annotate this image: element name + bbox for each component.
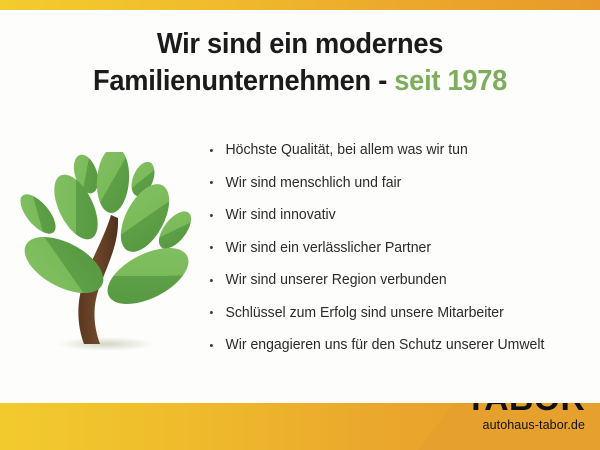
tree-leaves	[14, 152, 194, 316]
list-item-label: Wir sind innovativ	[225, 207, 335, 223]
list-item: Wir sind innovativ	[208, 207, 586, 224]
list-item-label: Wir sind menschlich und fair	[225, 175, 401, 191]
bullet-icon	[210, 279, 213, 282]
list-item: Wir engagieren uns für den Schutz unsere…	[208, 337, 586, 354]
logo-text: TABOR autohaus-tabor.de	[468, 382, 585, 432]
list-item: Höchste Qualität, bei allem was wir tun	[208, 142, 586, 159]
bullet-icon	[210, 181, 213, 184]
brand-url: autohaus-tabor.de	[468, 418, 585, 432]
footer-band: TABOR autohaus-tabor.de	[0, 370, 600, 450]
bullet-icon	[210, 311, 213, 314]
brand-wordmark: TABOR	[465, 382, 585, 416]
leaf	[14, 189, 62, 240]
page-title-line-1: Wir sind ein modernes	[18, 26, 582, 63]
slide-canvas: Wir sind ein modernes Familienunternehme…	[0, 0, 600, 450]
list-item: Wir sind ein verlässlicher Partner	[208, 240, 586, 257]
list-item: Wir sind menschlich und fair	[208, 175, 586, 192]
page-title-accent: seit 1978	[394, 65, 507, 97]
page-title: Wir sind ein modernes Familienunternehme…	[18, 26, 582, 100]
list-item: Wir sind unserer Region verbunden	[208, 272, 586, 289]
leaf	[95, 152, 132, 214]
list-item-label: Wir sind unserer Region verbunden	[225, 272, 446, 288]
list-item-label: Höchste Qualität, bei allem was wir tun	[225, 142, 467, 158]
list-item-label: Wir sind ein verlässlicher Partner	[225, 240, 431, 256]
page-title-line-2-plain: Familienunternehmen -	[93, 65, 394, 97]
list-item: Schlüssel zum Erfolg sind unsere Mitarbe…	[208, 305, 586, 322]
bullet-icon	[210, 214, 213, 217]
list-item-label: Schlüssel zum Erfolg sind unsere Mitarbe…	[225, 305, 503, 321]
value-list: Höchste Qualität, bei allem was wir tun …	[208, 142, 598, 370]
top-accent-bar	[0, 0, 600, 10]
bullet-icon	[210, 149, 213, 152]
tree-shadow	[58, 337, 154, 351]
bullet-icon	[210, 246, 213, 249]
page-title-line-2: Familienunternehmen - seit 1978	[18, 63, 582, 100]
tree-illustration	[14, 152, 194, 387]
bullet-icon	[210, 344, 213, 347]
list-item-label: Wir engagieren uns für den Schutz unsere…	[225, 337, 544, 353]
